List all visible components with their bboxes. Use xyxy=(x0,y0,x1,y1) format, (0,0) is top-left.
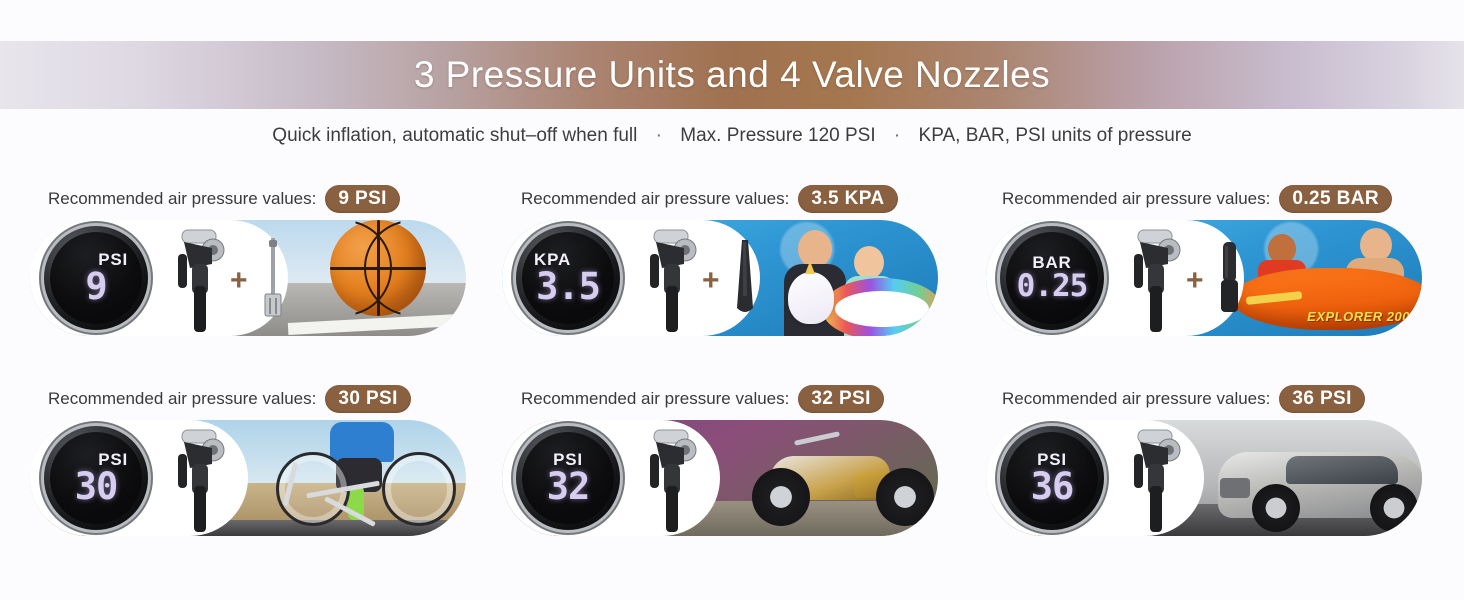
subtitle-part-1: Quick inflation, automatic shut–off when… xyxy=(272,125,637,146)
plus-sign: + xyxy=(230,266,248,296)
product-capsule: PSI 32 xyxy=(502,420,938,536)
recommended-label: Recommended air pressure values: xyxy=(521,189,789,209)
gauge-face: PSI 30 xyxy=(50,432,142,524)
pressure-card: Recommended air pressure values: 36 PSI xyxy=(976,384,1464,584)
recommended-label: Recommended air pressure values: xyxy=(1002,389,1270,409)
pressure-gauge-display: PSI 36 xyxy=(1000,426,1104,530)
header-banner: 3 Pressure Units and 4 Valve Nozzles xyxy=(0,41,1464,109)
product-capsule: PSI 36 xyxy=(986,420,1422,536)
pressure-badge: 32 PSI xyxy=(798,385,883,414)
needle-nozzle-icon xyxy=(258,236,288,322)
subtitle-separator-2: · xyxy=(881,125,913,147)
pressure-badge: 9 PSI xyxy=(325,185,399,214)
pressure-reading: 0.25 xyxy=(1017,272,1088,301)
pump-head-icon xyxy=(168,224,226,334)
subtitle-part-2: Max. Pressure 120 PSI xyxy=(680,125,875,146)
product-capsule: KPA 3.5 + xyxy=(502,220,938,336)
recommended-label: Recommended air pressure values: xyxy=(48,389,316,409)
pressure-gauge-display: BAR 0.25 xyxy=(1000,226,1104,330)
card-header: Recommended air pressure values: 0.25 BA… xyxy=(976,184,1464,214)
subtitle-part-3: KPA, BAR, PSI units of pressure xyxy=(919,125,1192,146)
pressure-card: Recommended air pressure values: 0.25 BA… xyxy=(976,184,1464,384)
gauge-face: PSI 9 xyxy=(50,232,142,324)
pump-head-icon xyxy=(1124,424,1182,534)
pressure-card: Recommended air pressure values: 30 PSI xyxy=(0,384,488,584)
pressure-reading: 30 xyxy=(75,469,118,504)
boat-caption: EXPLORER 200 xyxy=(1307,309,1410,324)
plus-sign: + xyxy=(1186,266,1204,296)
pressure-reading: 3.5 xyxy=(536,269,600,304)
pressure-reading: 36 xyxy=(1031,469,1074,504)
product-capsule: PSI 30 xyxy=(30,420,466,536)
pressure-gauge-display: KPA 3.5 xyxy=(516,226,620,330)
recommended-label: Recommended air pressure values: xyxy=(1002,189,1270,209)
subtitle-line: Quick inflation, automatic shut–off when… xyxy=(0,125,1464,147)
pressure-card-grid: Recommended air pressure values: 9 PSI xyxy=(0,184,1464,584)
pressure-card: Recommended air pressure values: 3.5 KPA xyxy=(488,184,976,384)
pump-head-icon xyxy=(640,224,698,334)
gauge-face: KPA 3.5 xyxy=(522,232,614,324)
gauge-face: PSI 36 xyxy=(1006,432,1098,524)
pump-head-icon xyxy=(168,424,226,534)
card-header: Recommended air pressure values: 32 PSI xyxy=(488,384,976,414)
subtitle-separator-1: · xyxy=(643,125,675,147)
infographic-page: 3 Pressure Units and 4 Valve Nozzles Qui… xyxy=(0,0,1464,600)
page-title: 3 Pressure Units and 4 Valve Nozzles xyxy=(414,54,1050,96)
pressure-gauge-display: PSI 9 xyxy=(44,226,148,330)
product-capsule: EXPLORER 200 BAR 0.25 xyxy=(986,220,1422,336)
pressure-badge: 3.5 KPA xyxy=(798,185,897,214)
product-capsule: PSI 9 + xyxy=(30,220,466,336)
card-header: Recommended air pressure values: 3.5 KPA xyxy=(488,184,976,214)
pressure-card: Recommended air pressure values: 32 PSI xyxy=(488,384,976,584)
pressure-card: Recommended air pressure values: 9 PSI xyxy=(0,184,488,384)
pressure-gauge-display: PSI 30 xyxy=(44,426,148,530)
pressure-reading: 32 xyxy=(547,469,590,504)
gauge-face: BAR 0.25 xyxy=(1006,232,1098,324)
pressure-reading: 9 xyxy=(85,269,106,304)
card-header: Recommended air pressure values: 30 PSI xyxy=(0,384,488,414)
pressure-gauge-display: PSI 32 xyxy=(516,426,620,530)
cone-nozzle-icon xyxy=(730,236,760,322)
recommended-label: Recommended air pressure values: xyxy=(48,189,316,209)
plus-sign: + xyxy=(702,266,720,296)
stepped-adapter-nozzle-icon xyxy=(1214,236,1244,322)
card-header: Recommended air pressure values: 9 PSI xyxy=(0,184,488,214)
pressure-badge: 30 PSI xyxy=(325,385,410,414)
card-header: Recommended air pressure values: 36 PSI xyxy=(976,384,1464,414)
gauge-face: PSI 32 xyxy=(522,432,614,524)
recommended-label: Recommended air pressure values: xyxy=(521,389,789,409)
pressure-badge: 36 PSI xyxy=(1279,385,1364,414)
pressure-badge: 0.25 BAR xyxy=(1279,185,1392,214)
pump-head-icon xyxy=(1124,224,1182,334)
pump-head-icon xyxy=(640,424,698,534)
